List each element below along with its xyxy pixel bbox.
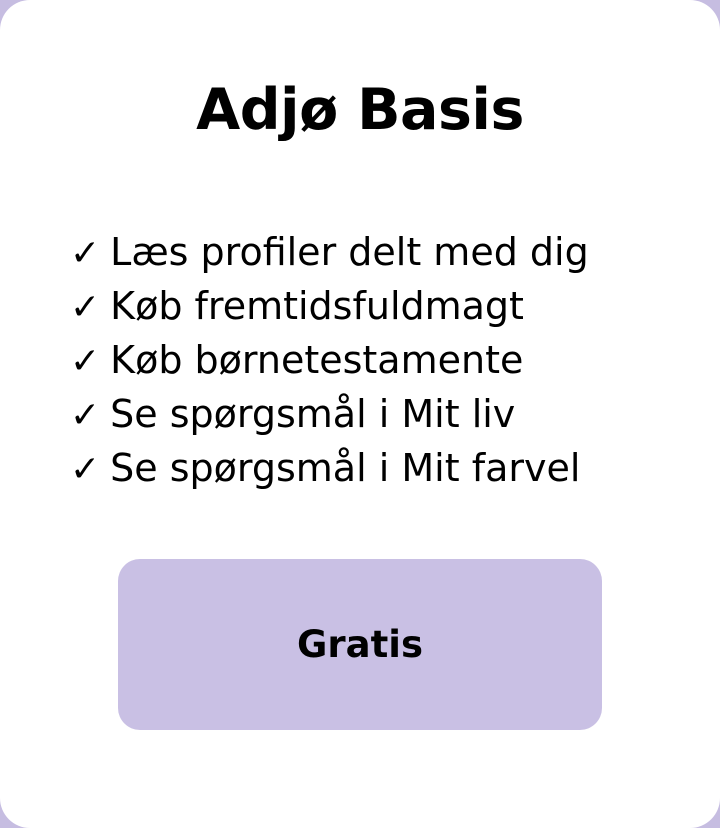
feature-label: Køb fremtidsfuldmagt: [110, 279, 524, 333]
check-icon: ✓: [70, 281, 100, 335]
pricing-card: Adjø Basis ✓Læs profiler delt med dig ✓K…: [0, 0, 720, 828]
list-item: ✓Køb børnetestamente: [70, 333, 670, 387]
select-plan-button-label: Gratis: [297, 623, 423, 666]
feature-label: Se spørgsmål i Mit liv: [110, 387, 515, 441]
page-title: Adjø Basis: [0, 76, 720, 144]
check-icon: ✓: [70, 227, 100, 281]
feature-label: Læs profiler delt med dig: [110, 225, 589, 279]
feature-label: Se spørgsmål i Mit farvel: [110, 441, 580, 495]
check-icon: ✓: [70, 335, 100, 389]
check-icon: ✓: [70, 389, 100, 443]
check-icon: ✓: [70, 443, 100, 497]
select-plan-button[interactable]: Gratis: [118, 559, 602, 730]
list-item: ✓Se spørgsmål i Mit liv: [70, 387, 670, 441]
feature-label: Køb børnetestamente: [110, 333, 523, 387]
list-item: ✓Køb fremtidsfuldmagt: [70, 279, 670, 333]
list-item: ✓Læs profiler delt med dig: [70, 225, 670, 279]
feature-list: ✓Læs profiler delt med dig ✓Køb fremtids…: [70, 225, 670, 495]
list-item: ✓Se spørgsmål i Mit farvel: [70, 441, 670, 495]
